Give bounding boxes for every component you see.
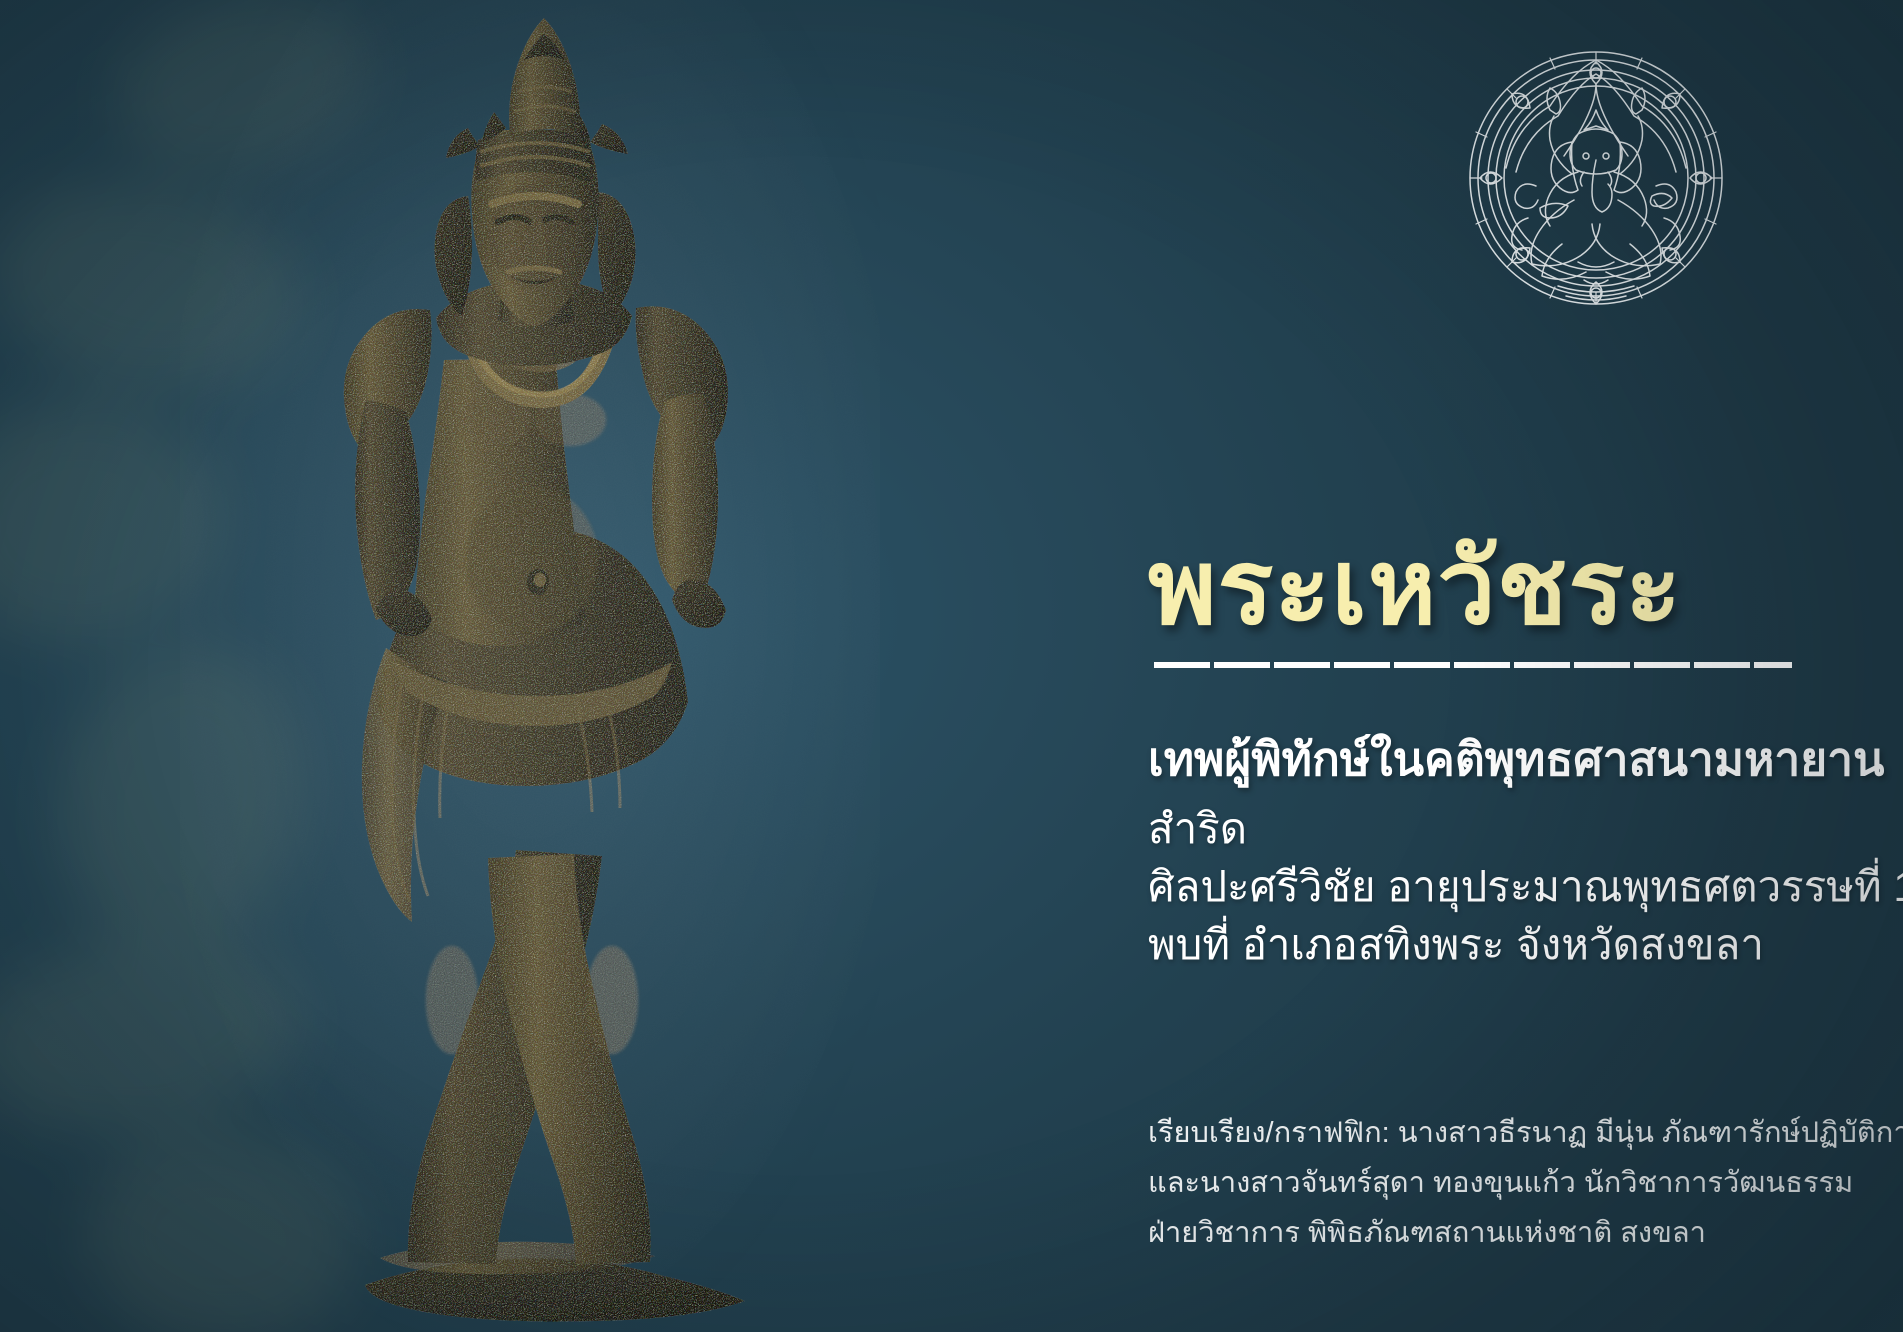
poster-canvas: พระเหวัชระ เทพผู้พิทักษ์ในคติพุทธศาสนามห…	[0, 0, 1903, 1332]
vignette-overlay	[0, 0, 1903, 1332]
